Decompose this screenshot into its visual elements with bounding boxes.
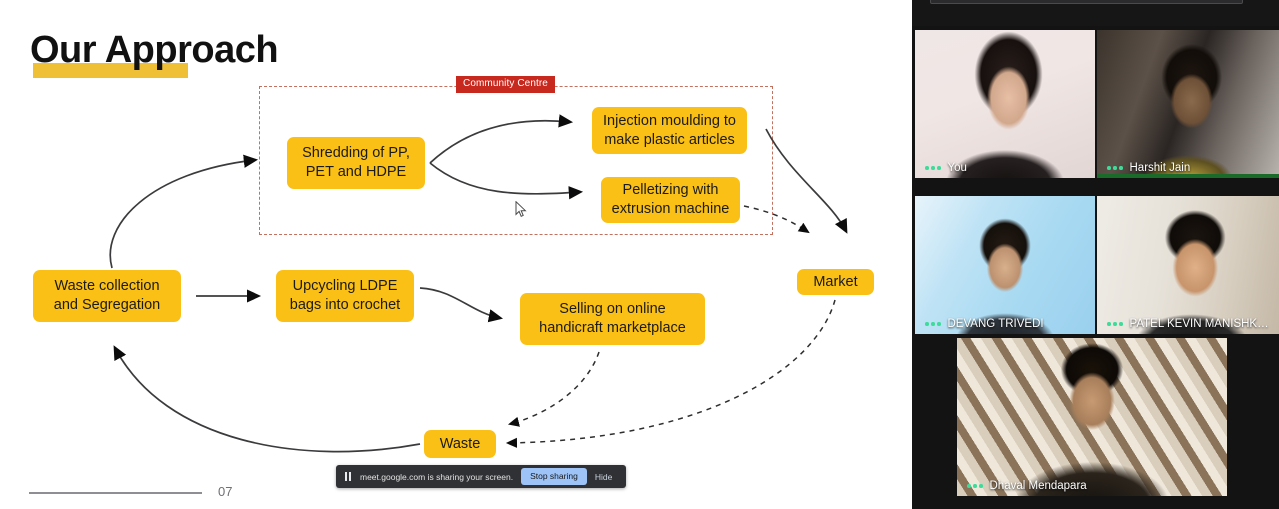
screen-share-bar[interactable]: meet.google.com is sharing your screen. … — [336, 465, 626, 488]
participant-name: You — [948, 162, 967, 174]
participant-name-row: DEVANG TRIVEDI — [915, 318, 1044, 330]
pause-icon[interactable] — [342, 471, 354, 483]
background-window-outline — [930, 0, 1243, 4]
participant-tile-dhaval[interactable]: Dhaval Mendapara — [957, 338, 1227, 496]
page-number: 07 — [218, 484, 232, 499]
speaking-indicator — [1097, 174, 1279, 178]
screen-root: Our Approach Community Centre — [0, 0, 1279, 509]
node-waste-collection[interactable]: Waste collection and Segregation — [33, 270, 181, 322]
video-grid-top-bar — [912, 0, 1279, 26]
participant-name: PATEL KEVIN MANISHK… — [1130, 318, 1269, 330]
participant-tile-harshit[interactable]: Harshit Jain — [1097, 30, 1279, 178]
video-feed — [915, 196, 1095, 334]
page-title: Our Approach — [30, 31, 278, 69]
more-options-icon[interactable] — [1107, 166, 1123, 170]
participant-tile-devang[interactable]: DEVANG TRIVEDI — [915, 196, 1095, 334]
node-selling[interactable]: Selling on online handicraft marketplace — [520, 293, 705, 345]
participant-name: DEVANG TRIVEDI — [948, 318, 1044, 330]
node-pelletizing[interactable]: Pelletizing with extrusion machine — [601, 177, 740, 223]
participant-name-row: You — [915, 162, 967, 174]
participant-tile-kevin[interactable]: PATEL KEVIN MANISHK… — [1097, 196, 1279, 334]
more-options-icon[interactable] — [925, 322, 941, 326]
hide-button[interactable]: Hide — [587, 472, 620, 482]
video-feed — [1097, 30, 1279, 178]
participant-tile-you[interactable]: You — [915, 30, 1095, 178]
participant-name: Harshit Jain — [1130, 162, 1191, 174]
video-feed — [1097, 196, 1279, 334]
video-grid: You Harshit Jain DEVANG TRIVEDI PATEL KE… — [912, 0, 1279, 509]
share-message: meet.google.com is sharing your screen. — [360, 472, 513, 482]
node-waste[interactable]: Waste — [424, 430, 496, 458]
more-options-icon[interactable] — [925, 166, 941, 170]
shared-slide: Our Approach Community Centre — [0, 0, 912, 509]
video-feed — [915, 30, 1095, 178]
more-options-icon[interactable] — [967, 484, 983, 488]
stop-sharing-button[interactable]: Stop sharing — [521, 468, 587, 485]
participant-name-row: Dhaval Mendapara — [957, 480, 1087, 492]
video-feed — [957, 338, 1227, 496]
node-injection[interactable]: Injection moulding to make plastic artic… — [592, 107, 747, 154]
footer-rule — [29, 492, 202, 494]
community-centre-badge: Community Centre — [456, 76, 555, 93]
node-market[interactable]: Market — [797, 269, 874, 295]
participant-name-row: PATEL KEVIN MANISHK… — [1097, 318, 1269, 330]
participant-name: Dhaval Mendapara — [990, 480, 1087, 492]
node-shredding[interactable]: Shredding of PP, PET and HDPE — [287, 137, 425, 189]
participant-name-row: Harshit Jain — [1097, 162, 1190, 174]
mouse-cursor-icon — [515, 201, 528, 218]
more-options-icon[interactable] — [1107, 322, 1123, 326]
node-upcycling[interactable]: Upcycling LDPE bags into crochet — [276, 270, 414, 322]
